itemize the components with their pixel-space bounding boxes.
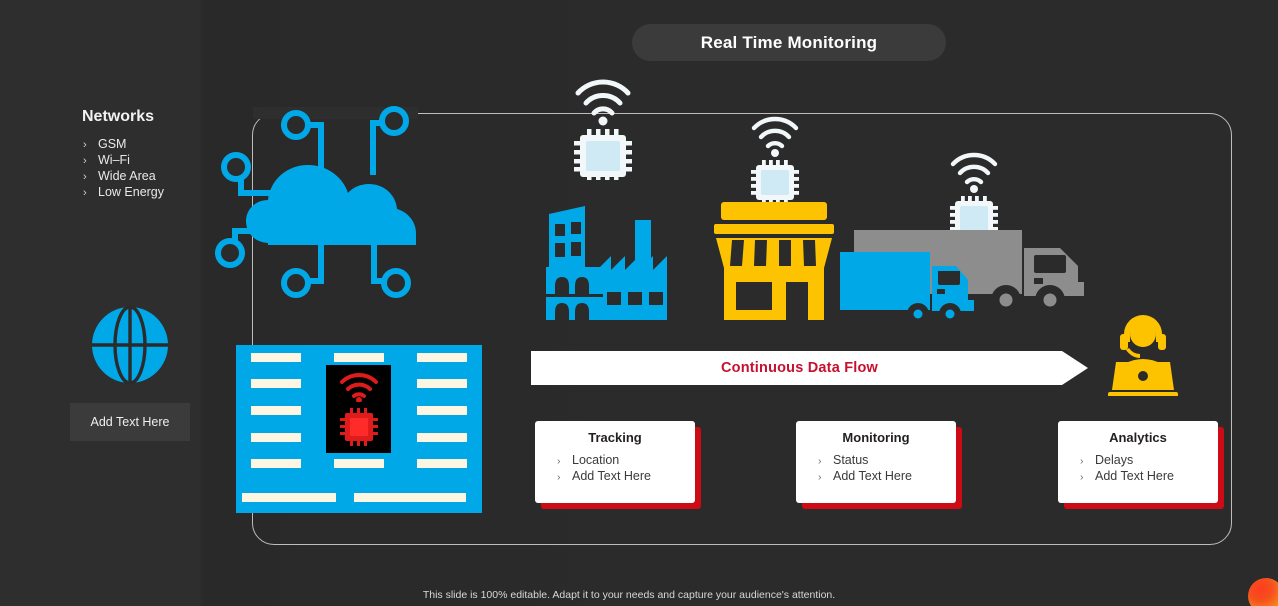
list-item-label: Delays bbox=[1095, 453, 1133, 467]
orange-sphere-logo bbox=[1248, 578, 1278, 606]
iot-node-1 bbox=[571, 76, 635, 180]
card-title: Tracking bbox=[535, 430, 695, 445]
server-rack-icon bbox=[236, 345, 482, 513]
chevron-right-icon: › bbox=[80, 155, 98, 167]
monitoring-card[interactable]: Monitoring › Status › Add Text Here bbox=[796, 421, 956, 503]
rack-slot bbox=[401, 451, 482, 476]
analytics-card[interactable]: Analytics › Delays › Add Text Here bbox=[1058, 421, 1218, 503]
networks-heading: Networks bbox=[82, 108, 154, 126]
wifi-icon bbox=[771, 149, 779, 157]
card-title: Monitoring bbox=[796, 430, 956, 445]
support-agent-icon bbox=[1104, 308, 1182, 396]
wifi-icon bbox=[970, 185, 978, 193]
chevron-right-icon: › bbox=[80, 139, 98, 151]
list-item[interactable]: › Add Text Here bbox=[796, 469, 956, 485]
list-item-label: Add Text Here bbox=[572, 469, 651, 483]
card-title: Analytics bbox=[1058, 430, 1218, 445]
chip-icon-red bbox=[338, 406, 380, 448]
cloud-network-icon bbox=[208, 103, 438, 303]
list-item[interactable]: › Delays bbox=[1058, 453, 1218, 469]
wifi-icon bbox=[599, 117, 608, 126]
wifi-icon-red bbox=[337, 370, 381, 402]
add-text-here-button[interactable]: Add Text Here bbox=[70, 403, 190, 441]
chevron-right-icon: › bbox=[80, 171, 98, 183]
iot-node-2 bbox=[748, 114, 802, 202]
chip-icon bbox=[761, 170, 789, 195]
tracking-card[interactable]: Tracking › Location › Add Text Here bbox=[535, 421, 695, 503]
rack-slot bbox=[319, 451, 400, 476]
footer-note: This slide is 100% editable. Adapt it to… bbox=[0, 585, 1278, 603]
server-status-overlay bbox=[326, 365, 391, 453]
rack-slot bbox=[236, 372, 317, 397]
rack-slot bbox=[401, 372, 482, 397]
rack-slot bbox=[236, 425, 317, 450]
list-item[interactable]: › Low Energy bbox=[80, 185, 210, 201]
globe-icon bbox=[90, 305, 170, 385]
list-item-label: Location bbox=[572, 453, 619, 467]
rack-slot bbox=[236, 451, 317, 476]
rack-slot bbox=[401, 345, 482, 370]
chevron-right-icon: › bbox=[818, 455, 833, 467]
truck-group-icon bbox=[838, 222, 1090, 326]
list-item[interactable]: › Add Text Here bbox=[535, 469, 695, 485]
rack-slot bbox=[401, 425, 482, 450]
slide-title-pill: Real Time Monitoring bbox=[632, 24, 946, 61]
factory-icon bbox=[533, 198, 679, 320]
server-rack-footer bbox=[236, 482, 482, 513]
list-item[interactable]: › Location bbox=[535, 453, 695, 469]
rack-slot bbox=[236, 345, 317, 370]
list-item-label: Wi–Fi bbox=[98, 153, 130, 167]
page-title: Real Time Monitoring bbox=[701, 33, 878, 53]
chevron-right-icon: › bbox=[1080, 455, 1095, 467]
chevron-right-icon: › bbox=[557, 455, 572, 467]
chevron-right-icon: › bbox=[1080, 471, 1095, 483]
chevron-right-icon: › bbox=[80, 187, 98, 199]
list-item-label: Add Text Here bbox=[833, 469, 912, 483]
list-item[interactable]: › Status bbox=[796, 453, 956, 469]
rack-slot bbox=[236, 398, 317, 423]
networks-list: › GSM › Wi–Fi › Wide Area › Low Energy bbox=[80, 137, 210, 201]
list-item[interactable]: › Wide Area bbox=[80, 169, 210, 185]
list-item[interactable]: › Add Text Here bbox=[1058, 469, 1218, 485]
store-icon bbox=[708, 198, 840, 320]
list-item-label: Low Energy bbox=[98, 185, 164, 199]
list-item-label: Status bbox=[833, 453, 868, 467]
footer-note-label: This slide is 100% editable. Adapt it to… bbox=[423, 589, 835, 601]
chevron-right-icon: › bbox=[818, 471, 833, 483]
list-item-label: Add Text Here bbox=[1095, 469, 1174, 483]
rack-slot bbox=[401, 398, 482, 423]
chevron-right-icon: › bbox=[557, 471, 572, 483]
list-item[interactable]: › Wi–Fi bbox=[80, 153, 210, 169]
add-text-here-label: Add Text Here bbox=[91, 415, 170, 429]
continuous-data-flow-banner: Continuous Data Flow bbox=[531, 351, 1088, 385]
chip-icon bbox=[586, 141, 620, 171]
list-item-label: GSM bbox=[98, 137, 126, 151]
continuous-data-flow-label: Continuous Data Flow bbox=[721, 360, 878, 376]
list-item-label: Wide Area bbox=[98, 169, 156, 183]
list-item[interactable]: › GSM bbox=[80, 137, 210, 153]
